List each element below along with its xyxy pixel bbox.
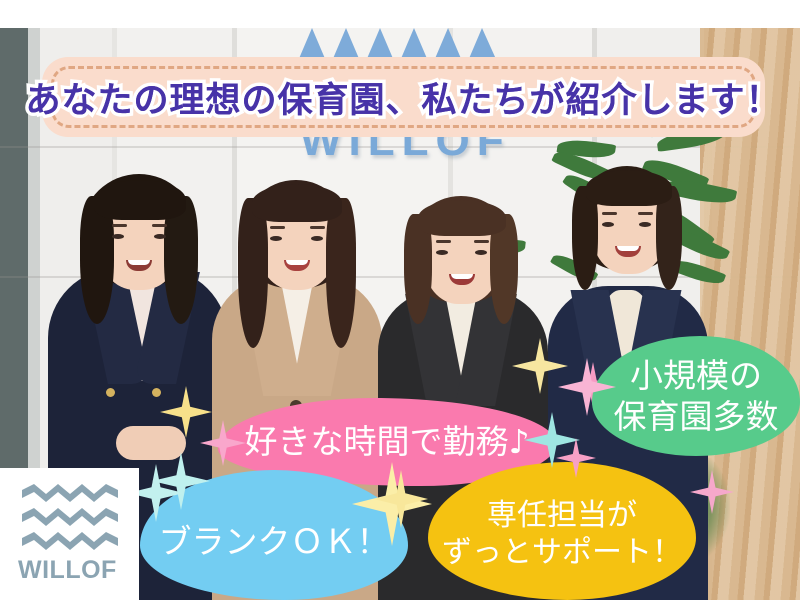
headline-text: あなたの理想の保育園、私たちが紹介します！ bbox=[42, 57, 765, 137]
bubble-line: 保育園多数 bbox=[614, 396, 779, 437]
sparkle-pink-mid bbox=[558, 358, 616, 416]
brand-logo-card[interactable]: WILLOF bbox=[0, 468, 139, 600]
bubble-line: 専任担当が bbox=[442, 497, 682, 535]
sparkle-pink-right bbox=[556, 438, 596, 478]
brand-wordmark: WILLOF bbox=[18, 556, 128, 585]
bubble-line: 好きな時間で勤務♪ bbox=[244, 421, 529, 462]
bubble-small-nursery[interactable]: 小規模の 保育園多数 bbox=[592, 336, 800, 456]
willof-zigzag-icon bbox=[22, 484, 118, 554]
sparkle-pink-far-right bbox=[690, 470, 734, 514]
headline-banner: あなたの理想の保育園、私たちが紹介します！ あなたの理想の保育園、私たちが紹介し… bbox=[42, 57, 765, 137]
advertisement-banner: WILLOF bbox=[0, 0, 800, 600]
bubble-line: 小規模の bbox=[614, 355, 779, 396]
bubble-line: ずっとサポート！ bbox=[442, 534, 682, 572]
